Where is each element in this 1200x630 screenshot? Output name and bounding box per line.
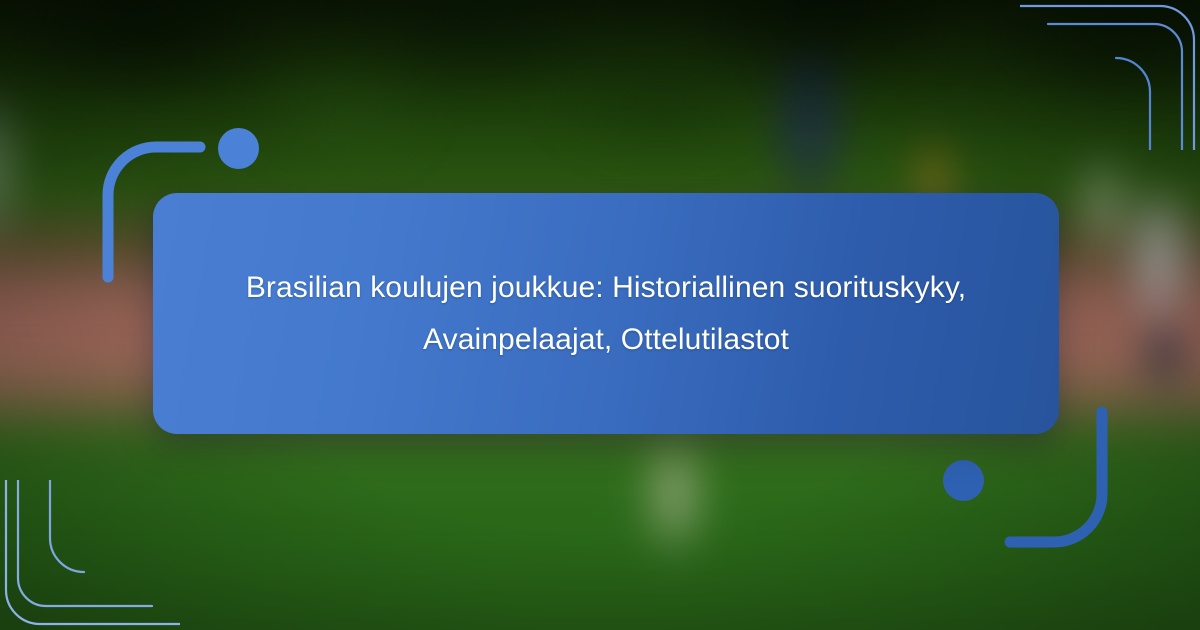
- accent-dot-bottom-right-icon: [943, 460, 984, 501]
- social-card-canvas: Brasilian koulujen joukkue: Historiallin…: [0, 0, 1200, 630]
- title-card: Brasilian koulujen joukkue: Historiallin…: [153, 193, 1059, 434]
- accent-dot-top-left-icon: [218, 128, 259, 169]
- page-title: Brasilian koulujen joukkue: Historiallin…: [241, 262, 971, 365]
